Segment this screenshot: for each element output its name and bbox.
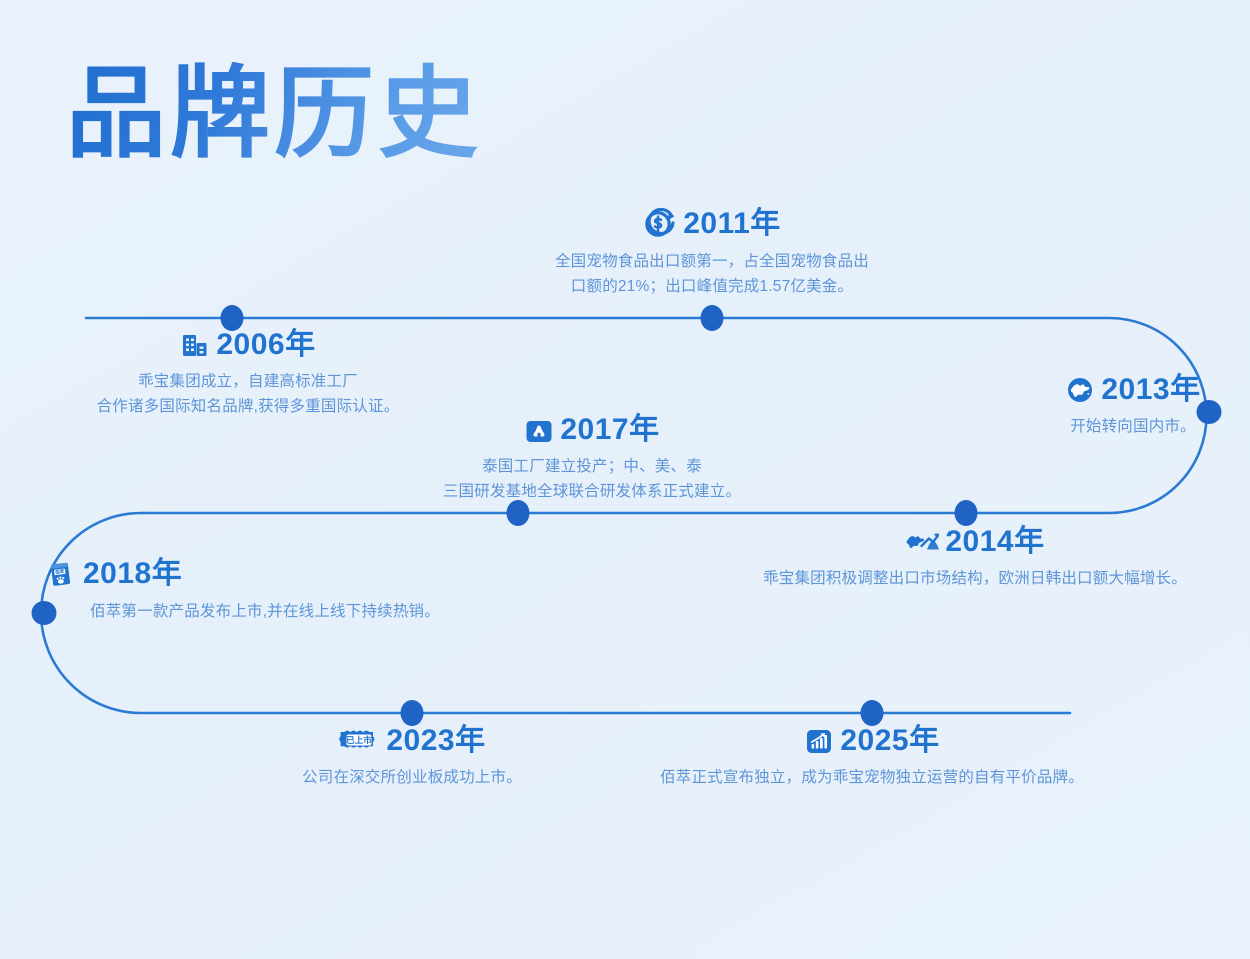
milestone-2023-description: 公司在深交所创业板成功上市。 — [212, 765, 612, 790]
milestone-2014-description: 乖宝集团积极调整出口市场结构，欧洲日韩出口额大幅增长。 — [705, 566, 1245, 591]
milestone-2013-year: 2013年 — [1101, 375, 1200, 405]
milestone-2017-head: 2017年 — [382, 415, 802, 445]
milestone-2014[interactable]: 2014年 乖宝集团积极调整出口市场结构，欧洲日韩出口额大幅增长。 — [705, 527, 1245, 591]
milestone-2018-head: 佰萃 2018年 — [40, 558, 490, 590]
milestone-2006-year: 2006年 — [216, 330, 315, 360]
milestone-2025[interactable]: 2025年 佰萃正式宣布独立，成为乖宝宠物独立运营的自有平价品牌。 — [602, 726, 1142, 790]
timeline-dot-2014 — [955, 500, 978, 526]
milestone-2018-year: 2018年 — [83, 559, 182, 589]
listed-badge-icon: 已上市 — [338, 726, 380, 756]
page-title: 品牌历史 — [66, 62, 482, 167]
milestone-2025-year: 2025年 — [840, 726, 939, 756]
milestone-2014-head: 2014年 — [705, 527, 1245, 557]
milestone-2011-description: 全国宠物食品出口额第一，占全国宠物食品出 口额的21%；出口峰值完成1.57亿美… — [502, 249, 922, 299]
milestone-2013-description: 开始转向国内市。 — [1013, 414, 1250, 439]
milestone-2017-year: 2017年 — [560, 415, 659, 445]
milestone-2023-head: 已上市 2023年 — [212, 726, 612, 756]
milestone-2017[interactable]: 2017年 泰国工厂建立投产；中、美、泰 三国研发基地全球联合研发体系正式建立。 — [382, 415, 802, 504]
milestone-2006[interactable]: 2006年 乖宝集团成立，自建高标准工厂 合作诸多国际知名品牌,获得多重国际认证… — [48, 330, 448, 419]
global-growth-icon — [905, 527, 939, 557]
infographic-canvas: 品牌历史 2011年 — [0, 0, 1250, 959]
factory-icon — [524, 415, 554, 445]
milestone-2023-year: 2023年 — [386, 726, 485, 756]
china-globe-icon — [1065, 375, 1095, 405]
timeline-dot-2011 — [701, 305, 724, 331]
milestone-2011-head: 2011年 — [502, 208, 922, 240]
milestone-2006-description: 乖宝集团成立，自建高标准工厂 合作诸多国际知名品牌,获得多重国际认证。 — [48, 369, 448, 419]
growth-chart-icon — [804, 726, 834, 756]
milestone-2018[interactable]: 佰萃 2018年 佰萃第一款产品发布上市,并在线上线下持续热销。 — [40, 558, 490, 624]
milestone-2013[interactable]: 2013年 开始转向国内市。 — [1013, 375, 1250, 439]
milestone-2017-description: 泰国工厂建立投产；中、美、泰 三国研发基地全球联合研发体系正式建立。 — [382, 454, 802, 504]
milestone-2011[interactable]: 2011年 全国宠物食品出口额第一，占全国宠物食品出 口额的21%；出口峰值完成… — [502, 208, 922, 299]
pet-food-bag-icon: 佰萃 — [45, 558, 77, 590]
milestone-2014-year: 2014年 — [945, 527, 1044, 557]
listed-badge-label: 已上市 — [346, 734, 372, 745]
building-icon — [180, 330, 210, 360]
currency-export-icon — [643, 208, 677, 240]
timeline-dot-2023 — [401, 700, 424, 726]
milestone-2006-head: 2006年 — [48, 330, 448, 360]
milestone-2023[interactable]: 已上市 2023年 公司在深交所创业板成功上市。 — [212, 726, 612, 790]
milestone-2025-description: 佰萃正式宣布独立，成为乖宝宠物独立运营的自有平价品牌。 — [602, 765, 1142, 790]
milestone-2011-year: 2011年 — [683, 209, 781, 239]
timeline-dot-2025 — [861, 700, 884, 726]
milestone-2025-head: 2025年 — [602, 726, 1142, 756]
milestone-2018-description: 佰萃第一款产品发布上市,并在线上线下持续热销。 — [40, 599, 490, 624]
milestone-2013-head: 2013年 — [1013, 375, 1250, 405]
